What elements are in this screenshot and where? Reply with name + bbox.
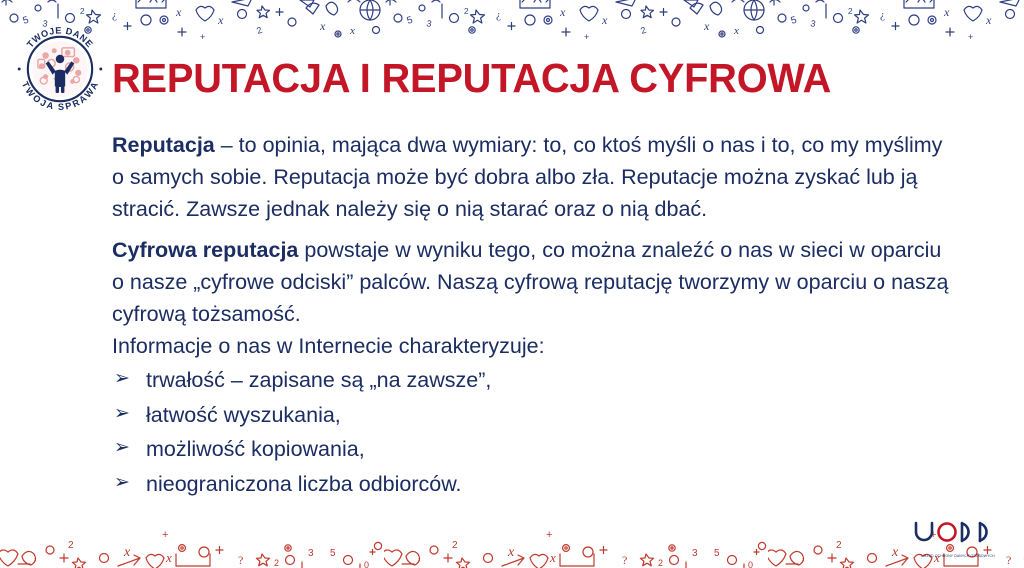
svg-text:x: x	[559, 5, 566, 19]
svg-text:+: +	[584, 32, 589, 42]
svg-text:x: x	[165, 550, 172, 565]
svg-text:x: x	[349, 25, 355, 37]
paragraph-reputacja: Reputacja – to opinia, mająca dwa wymiar…	[112, 130, 958, 225]
twoje-dane-twoja-sprawa-logo-icon: TWOJE DANE TWOJA SPRAWA	[12, 20, 108, 118]
svg-text:¿: ¿	[112, 9, 117, 21]
list-item: ➢ nieograniczona liczba odbiorców.	[112, 469, 958, 501]
paragraph-cyfrowa-reputacja-lede: Cyfrowa reputacja	[112, 238, 298, 262]
svg-text:2: 2	[836, 540, 842, 551]
arrow-bullet-icon: ➢	[114, 469, 130, 498]
uodo-subtitle: URZĄD OCHRONY DANYCH OSOBOWYCH	[910, 554, 1006, 558]
svg-text:x: x	[319, 19, 326, 33]
list-intro: Informacje o nas w Internecie charaktery…	[112, 331, 958, 363]
list-item-label: nieograniczona liczba odbiorców.	[146, 472, 462, 496]
svg-text:+: +	[162, 529, 168, 541]
svg-text:3: 3	[426, 18, 433, 29]
uodo-wordmark-icon	[910, 520, 1006, 550]
doodle-tile-icon: 5 3 2 ¿ x x	[768, 0, 1024, 48]
slide-body: Reputacja – to opinia, mająca dwa wymiar…	[112, 130, 958, 504]
doodle-pattern-bottom: 2 x x + ? 2	[0, 518, 1024, 568]
svg-text:x: x	[123, 545, 131, 560]
arrow-bullet-icon: ➢	[114, 365, 130, 394]
svg-text:2: 2	[255, 25, 263, 36]
uodo-logo: URZĄD OCHRONY DANYCH OSOBOWYCH	[910, 520, 1006, 560]
svg-text:2: 2	[639, 25, 647, 36]
svg-text:2: 2	[658, 558, 663, 568]
svg-text:?: ?	[622, 553, 627, 567]
list-item-label: łatwość wyszukania,	[146, 403, 341, 427]
slide-canvas: 5 3 2 ¿ x x	[0, 0, 1024, 568]
page-title: REPUTACJA I REPUTACJA CYFROWA	[112, 57, 831, 100]
svg-text:x: x	[943, 5, 950, 19]
svg-text:x: x	[507, 545, 515, 560]
svg-text:2: 2	[464, 7, 469, 16]
paragraph-reputacja-lede: Reputacja	[112, 133, 215, 157]
svg-text:5: 5	[714, 548, 720, 559]
svg-text:¿: ¿	[496, 9, 501, 21]
list-item: ➢ łatwość wyszukania,	[112, 400, 958, 432]
svg-text:2: 2	[80, 7, 85, 16]
svg-text:x: x	[217, 13, 224, 27]
svg-text:0: 0	[364, 560, 369, 568]
svg-text:+: +	[968, 32, 973, 42]
arrow-bullet-icon: ➢	[114, 434, 130, 463]
doodle-tile-icon: 5 3 2 ¿ x x	[384, 0, 768, 48]
svg-text:?: ?	[238, 553, 243, 567]
svg-text:3: 3	[810, 18, 817, 29]
svg-text:0: 0	[748, 560, 753, 568]
svg-text:x: x	[601, 13, 608, 27]
svg-text:x: x	[175, 5, 182, 19]
svg-text:2: 2	[274, 558, 279, 568]
svg-text:x: x	[891, 545, 899, 560]
list-item: ➢ możliwość kopiowania,	[112, 434, 958, 466]
arrow-bullet-icon: ➢	[114, 400, 130, 429]
svg-text:3: 3	[692, 548, 698, 559]
svg-text:2: 2	[68, 540, 74, 551]
doodle-pattern-top: 5 3 2 ¿ x x	[0, 0, 1024, 48]
svg-text:+: +	[200, 32, 205, 42]
list-item-label: trwałość – zapisane są „na zawsze”,	[146, 368, 491, 392]
svg-text:x: x	[733, 25, 739, 37]
paragraph-cyfrowa-reputacja: Cyfrowa reputacja powstaje w wyniku tego…	[112, 235, 958, 330]
list-item: ➢ trwałość – zapisane są „na zawsze”,	[112, 365, 958, 397]
svg-text:¿: ¿	[880, 9, 885, 21]
characteristics-list: ➢ trwałość – zapisane są „na zawsze”, ➢ …	[112, 365, 958, 501]
svg-text:5: 5	[330, 548, 336, 559]
svg-text:x: x	[549, 550, 556, 565]
svg-text:x: x	[703, 19, 710, 33]
list-item-label: możliwość kopiowania,	[146, 437, 365, 461]
svg-text:5: 5	[790, 15, 799, 27]
paragraph-reputacja-text: – to opinia, mająca dwa wymiary: to, co …	[112, 133, 942, 221]
svg-text:2: 2	[848, 7, 853, 16]
svg-text:x: x	[985, 13, 992, 27]
svg-text:?: ?	[1006, 553, 1011, 567]
svg-text:+: +	[546, 529, 552, 541]
svg-text:3: 3	[308, 548, 314, 559]
svg-text:5: 5	[406, 15, 415, 27]
doodle-tile-icon: 2 x x + ? 2	[0, 518, 384, 568]
doodle-tile-icon: 2 x x + ? 2	[384, 518, 768, 568]
svg-text:2: 2	[452, 540, 458, 551]
